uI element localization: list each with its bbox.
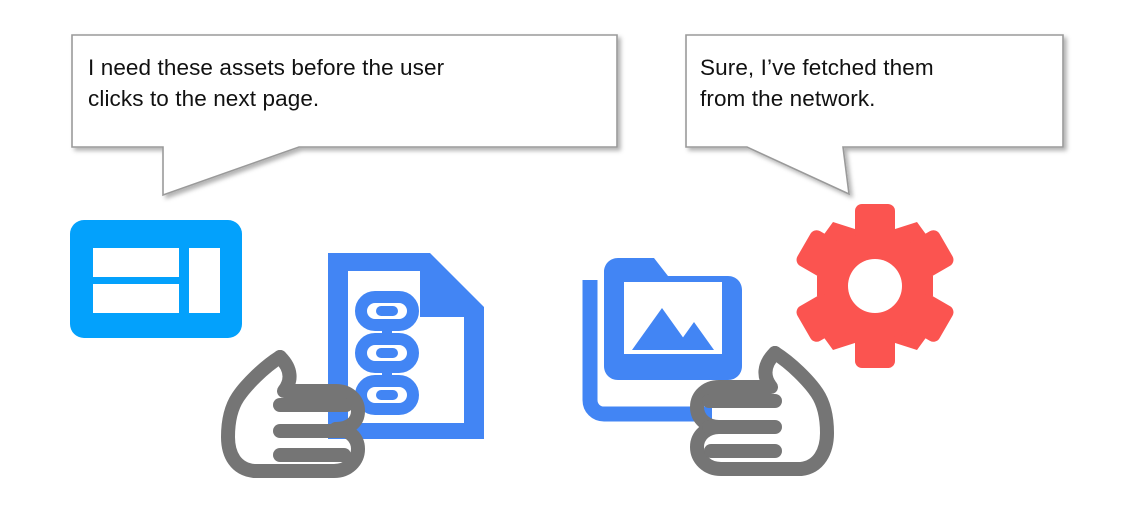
gear-icon: [793, 204, 957, 368]
document-inner-right: [420, 317, 464, 423]
hand-index-finger: [280, 357, 358, 429]
hand-index-finger: [697, 353, 775, 427]
speech-bubble-left-text: I need these assets before the user clic…: [88, 52, 608, 114]
gear-hole: [848, 259, 902, 313]
pointing-hand-icon: [218, 345, 378, 485]
page-layout-block-top: [93, 248, 179, 277]
page-layout-icon: [70, 220, 242, 338]
page-layout-block-side: [189, 248, 220, 313]
page-layout-block-bottom: [93, 284, 179, 313]
speech-bubble-right-text: Sure, I’ve fetched them from the network…: [700, 52, 1050, 114]
illustration-canvas: I need these assets before the user clic…: [0, 0, 1130, 528]
